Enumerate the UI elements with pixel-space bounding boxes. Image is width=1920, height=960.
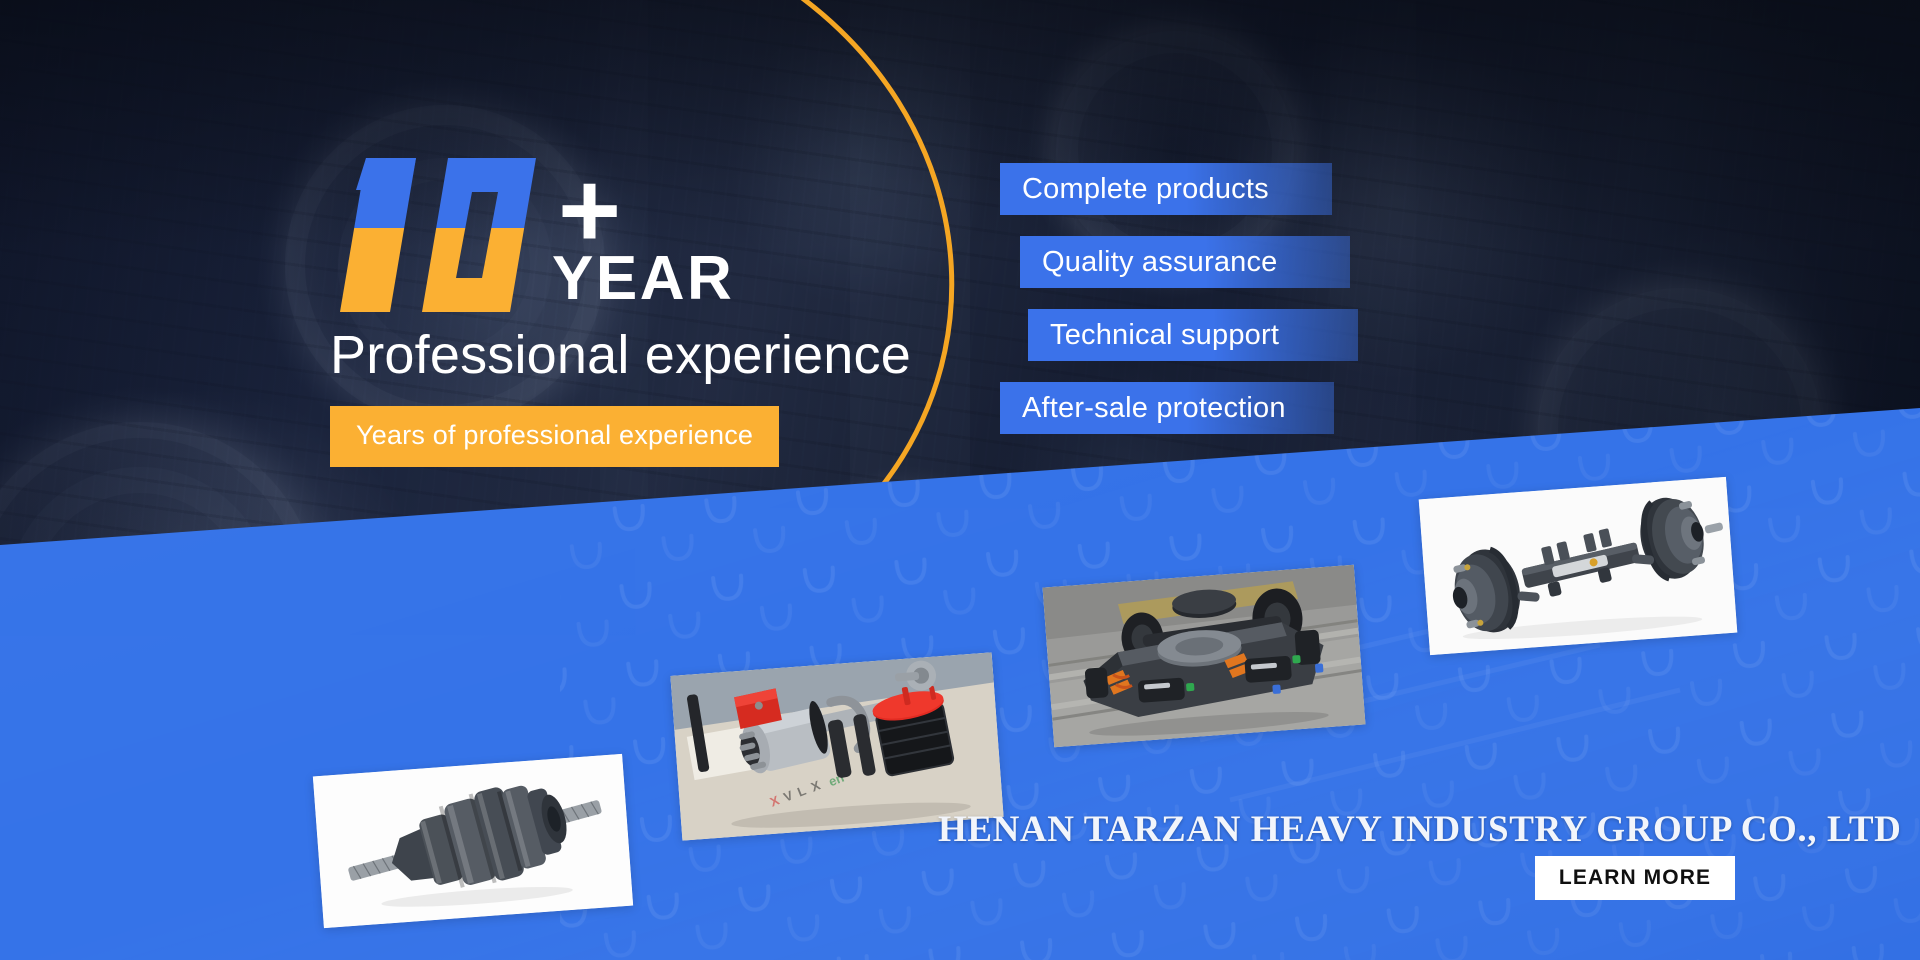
company-name: HENAN TARZAN HEAVY INDUSTRY GROUP CO., L… [938, 808, 1901, 851]
trailer-axle-image [1419, 477, 1738, 655]
product-thumbnail-bottom-roller-bushing[interactable] [313, 754, 633, 928]
feature-tag-after-sale-protection[interactable]: After-sale protection [1000, 382, 1334, 434]
product-thumbnail-trailer-axle[interactable] [1419, 477, 1738, 655]
railway-bogie-image [1043, 565, 1366, 747]
bottom-roller-bushing-image [313, 754, 633, 928]
feature-tag-complete-products[interactable]: Complete products [1000, 163, 1332, 215]
promotional-banner: + YEAR Professional experience Years of … [0, 0, 1920, 960]
feature-tag-quality-assurance[interactable]: Quality assurance [1020, 236, 1350, 288]
learn-more-button[interactable]: LEARN MORE [1535, 856, 1735, 900]
feature-tag-technical-support[interactable]: Technical support [1028, 309, 1358, 361]
product-thumbnail-railway-bogie[interactable] [1043, 565, 1366, 747]
